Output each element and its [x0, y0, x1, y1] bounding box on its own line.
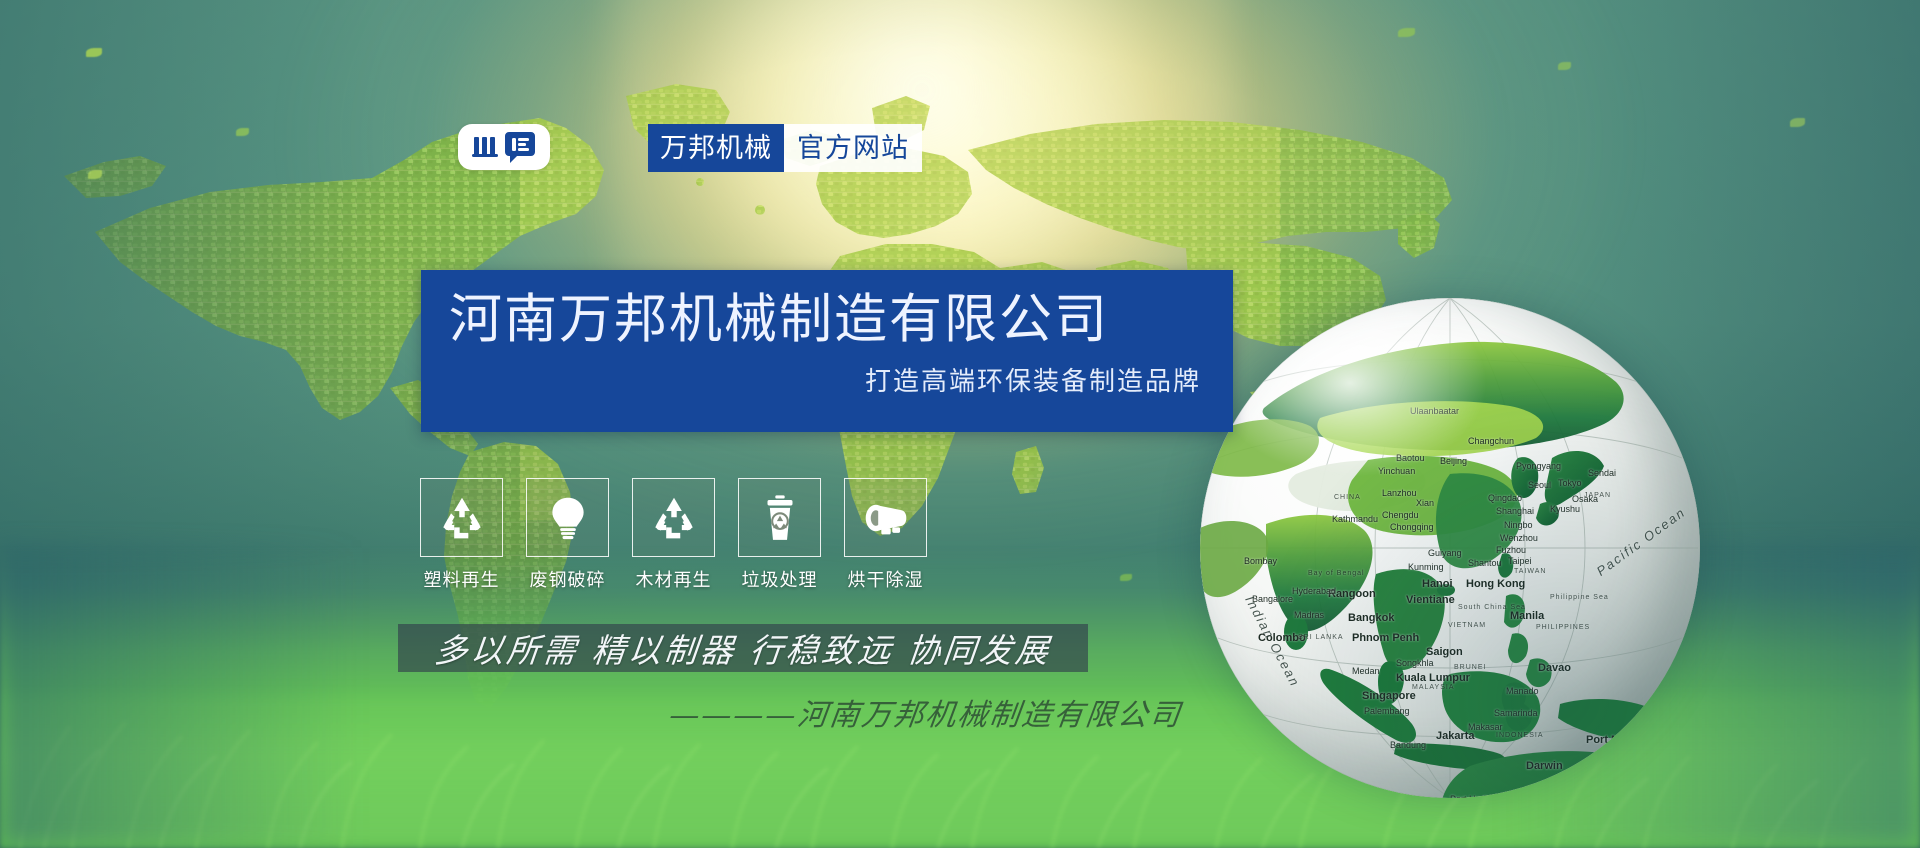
feature-item[interactable]: 木材再生: [632, 478, 715, 592]
feature-label: 垃圾处理: [742, 566, 818, 592]
blower-dryer-icon[interactable]: [844, 478, 927, 557]
feature-icon-row: 塑料再生废钢破碎木材再生垃圾处理烘干除湿: [420, 478, 927, 592]
feature-label: 塑料再生: [424, 566, 500, 592]
company-title-panel: 河南万邦机械制造有限公司 打造高端环保装备制造品牌: [421, 270, 1233, 432]
brand-header: 万邦机械 官方网站: [458, 124, 922, 172]
slogan-text: 多以所需 精以制器 行稳致远 协同发展: [432, 624, 1054, 672]
company-subtitle: 打造高端环保装备制造品牌: [449, 361, 1205, 398]
brand-name: 万邦机械: [648, 124, 784, 172]
leaf-speck: [88, 170, 102, 179]
leaf-speck: [1398, 28, 1415, 37]
globe-graphic: UlaanbaatarBaotouBeijingYinchuanChangchu…: [1200, 298, 1700, 798]
recycle-icon[interactable]: [632, 478, 715, 557]
globe-sphere: UlaanbaatarBaotouBeijingYinchuanChangchu…: [1200, 298, 1700, 798]
trash-bin-icon[interactable]: [738, 478, 821, 557]
company-logo[interactable]: [458, 124, 550, 170]
feature-item[interactable]: 烘干除湿: [844, 478, 927, 592]
feature-label: 木材再生: [636, 566, 712, 592]
feature-label: 烘干除湿: [848, 566, 924, 592]
leaf-speck: [1558, 62, 1571, 70]
site-tag: 官方网站: [784, 124, 922, 172]
recycle-icon[interactable]: [420, 478, 503, 557]
slogan-signature: ————河南万邦机械制造有限公司: [667, 690, 1192, 734]
grass-shadow-left: [0, 548, 360, 848]
feature-label: 废钢破碎: [530, 566, 606, 592]
speech-bubble-b-mark-icon: [503, 130, 537, 164]
slogan-bar: 多以所需 精以制器 行稳致远 协同发展: [398, 624, 1088, 672]
hero-banner: UlaanbaatarBaotouBeijingYinchuanChangchu…: [0, 0, 1920, 848]
leaf-speck: [236, 128, 249, 136]
leaf-speck: [86, 48, 102, 57]
company-title: 河南万邦机械制造有限公司: [449, 292, 1205, 347]
feature-item[interactable]: 垃圾处理: [738, 478, 821, 592]
feature-item[interactable]: 废钢破碎: [526, 478, 609, 592]
feature-item[interactable]: 塑料再生: [420, 478, 503, 592]
leaf-speck: [1790, 118, 1805, 127]
letter-w-mark-icon: [472, 135, 498, 159]
lightbulb-icon[interactable]: [526, 478, 609, 557]
